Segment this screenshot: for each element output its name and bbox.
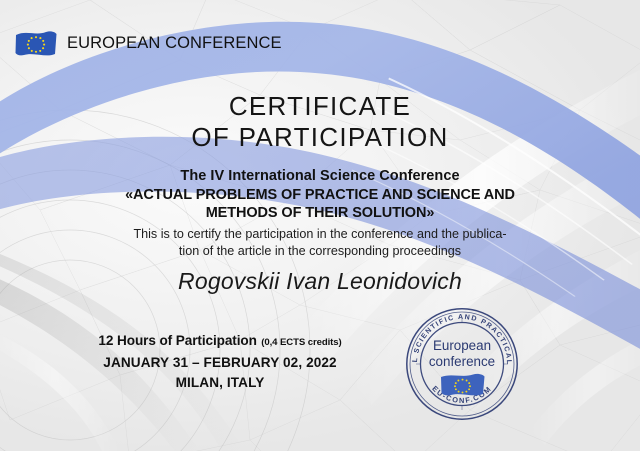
seal-eu-flag-icon [441, 374, 485, 396]
seal-center-line1: European [433, 338, 491, 353]
certificate-canvas: EUROPEAN CONFERENCE CERTIFICATE OF PARTI… [0, 0, 640, 451]
conference-theme-line1: «ACTUAL PROBLEMS OF PRACTICE AND SCIENCE… [0, 186, 640, 204]
participation-hours: 12 Hours of Participation [98, 333, 256, 348]
certification-statement-line1: This is to certify the participation in … [0, 226, 640, 243]
recipient-name: Rogovskii Ivan Leonidovich [0, 268, 640, 295]
certificate-title-line2: OF PARTICIPATION [0, 122, 640, 153]
participation-details: 12 Hours of Participation (0,4 ECTS cred… [40, 332, 400, 390]
certification-statement: This is to certify the participation in … [0, 226, 640, 259]
eu-flag-icon [14, 28, 58, 59]
brand-name: EUROPEAN CONFERENCE [67, 34, 282, 53]
header-logo: EUROPEAN CONFERENCE [14, 28, 282, 59]
conference-subtitle: The IV International Science Conference [0, 168, 640, 184]
conference-theme-line2: METHODS OF THEIR SOLUTION» [0, 204, 640, 222]
seal-center-line2: conference [429, 354, 495, 369]
certificate-title-line1: CERTIFICATE [0, 91, 640, 122]
conference-theme: «ACTUAL PROBLEMS OF PRACTICE AND SCIENCE… [0, 186, 640, 222]
certification-statement-line2: tion of the article in the corresponding… [0, 243, 640, 260]
event-dates: JANUARY 31 – FEBRUARY 02, 2022 [40, 355, 400, 370]
conference-seal-stamp-icon: INTERNATIONAL SCIENTIFIC AND PRACTICAL C… [404, 306, 520, 422]
ects-credits: (0,4 ECTS credits) [261, 337, 341, 348]
event-location: MILAN, ITALY [40, 375, 400, 390]
participation-hours-row: 12 Hours of Participation (0,4 ECTS cred… [40, 332, 400, 350]
conference-seal: INTERNATIONAL SCIENTIFIC AND PRACTICAL C… [404, 306, 520, 422]
